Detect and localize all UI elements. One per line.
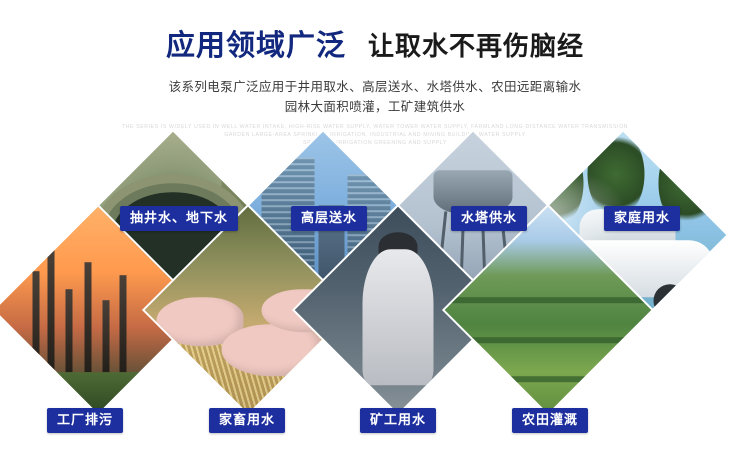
- description-line-1: 该系列电泵广泛应用于井用取水、高层送水、水塔供水、农田远距离输水: [0, 77, 750, 97]
- tile-label-home[interactable]: 家庭用水: [604, 206, 680, 231]
- english-subtext-line-1: THE SERIES IS WIDELY USED IN WELL WATER …: [0, 123, 750, 131]
- application-tiles: 抽井水、地下水 高层送水 水塔供水 家庭用水 工厂排污 家畜用水 矿工用水 农田…: [0, 168, 750, 468]
- description-line-2: 园林大面积喷灌，工矿建筑供水: [0, 97, 750, 117]
- headline: 应用领域广泛 让取水不再伤脑经: [0, 22, 750, 64]
- tile-label-well[interactable]: 抽井水、地下水: [120, 206, 238, 231]
- promo-banner: 应用领域广泛 让取水不再伤脑经 该系列电泵广泛应用于井用取水、高层送水、水塔供水…: [0, 0, 750, 468]
- tile-label-factory[interactable]: 工厂排污: [47, 408, 123, 433]
- tile-label-farm[interactable]: 农田灌溉: [512, 408, 588, 433]
- tile-label-miner[interactable]: 矿工用水: [360, 408, 436, 433]
- header: 应用领域广泛 让取水不再伤脑经 该系列电泵广泛应用于井用取水、高层送水、水塔供水…: [0, 0, 750, 147]
- headline-secondary: 让取水不再伤脑经: [368, 26, 584, 63]
- tile-label-tower[interactable]: 水塔供水: [451, 206, 527, 231]
- tile-label-pig[interactable]: 家畜用水: [209, 408, 285, 433]
- headline-primary: 应用领域广泛: [166, 22, 346, 64]
- description: 该系列电泵广泛应用于井用取水、高层送水、水塔供水、农田远距离输水 园林大面积喷灌…: [0, 77, 750, 117]
- tile-label-city[interactable]: 高层送水: [291, 206, 367, 231]
- english-subtext-line-2: GARDEN LARGE-AREA SPRINKLER IRRIGATION, …: [0, 131, 750, 139]
